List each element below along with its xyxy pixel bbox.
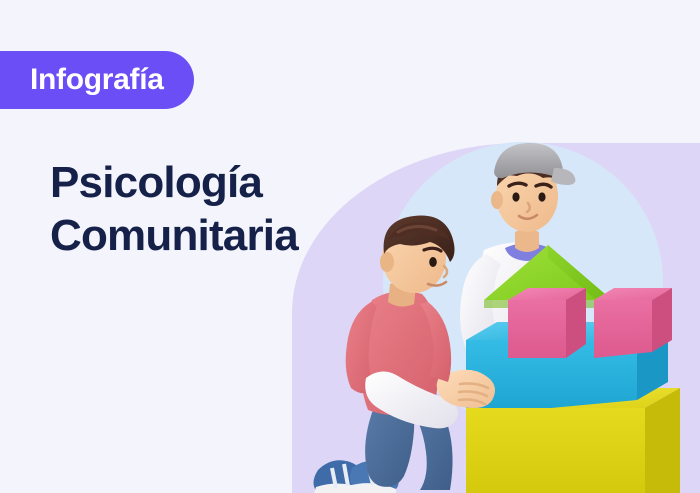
- badge-label: Infografía: [30, 65, 164, 95]
- page-title-line-2: Comunitaria: [50, 210, 380, 263]
- infographic-badge: Infografía: [0, 51, 194, 109]
- top-block-pink-left: [508, 288, 586, 358]
- page-title: Psicología Comunitaria: [50, 157, 380, 263]
- infographic-cover: Infografía Psicología Comunitaria: [0, 0, 700, 493]
- page-title-line-1: Psicología: [50, 157, 380, 210]
